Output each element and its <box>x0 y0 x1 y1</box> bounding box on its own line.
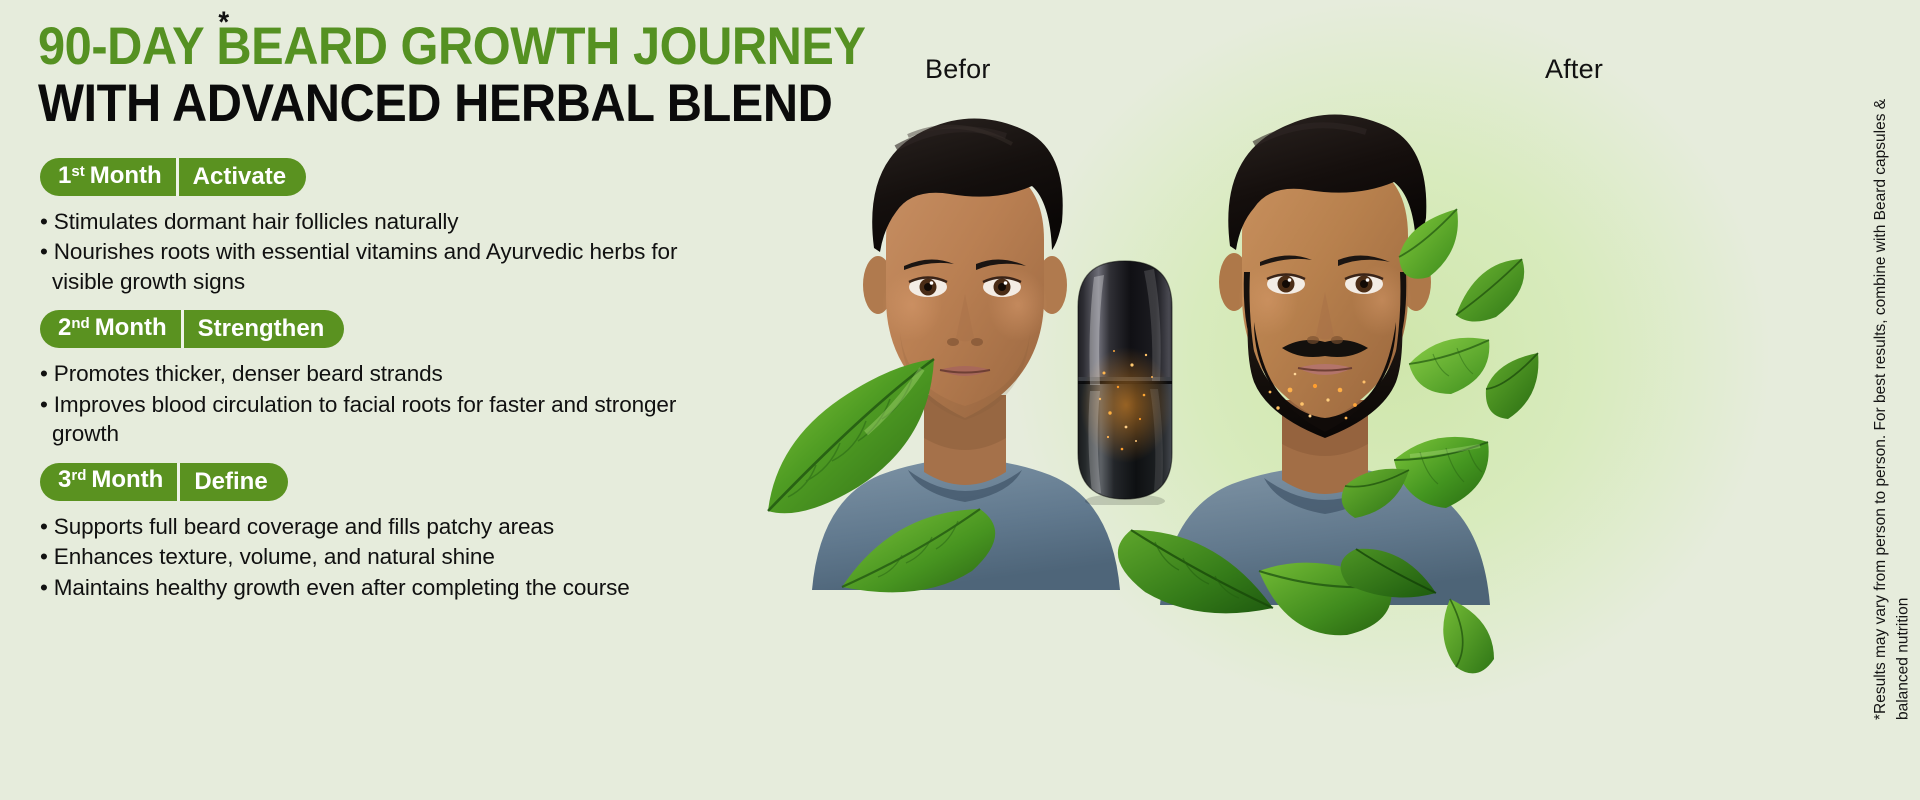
bullet-item: •Supports full beard coverage and fills … <box>40 512 740 541</box>
month-badge-3: 3rdMonth Define <box>40 463 288 501</box>
capsule-body <box>1070 255 1180 505</box>
bullet-item: •Promotes thicker, denser beard strands <box>40 359 740 388</box>
month-badge-2-stage: Strengthen <box>184 310 345 348</box>
leaf-icon <box>1330 535 1440 607</box>
month-badge-2-suffix: nd <box>71 310 89 343</box>
leaf-icon <box>1452 255 1530 327</box>
month-badge-1: 1stMonth Activate <box>40 158 306 196</box>
month-badge-1-left: 1stMonth <box>40 158 176 196</box>
month-badge-1-stage: Activate <box>179 158 306 196</box>
month-1-bullets: •Stimulates dormant hair follicles natur… <box>40 207 740 296</box>
month-badge-3-number: 3 <box>58 463 71 500</box>
bullet-dot: • <box>40 575 48 600</box>
headline-line-2: WITH ADVANCED HERBAL BLEND <box>38 79 848 130</box>
bullet-text: Nourishes roots with essential vitamins … <box>52 239 677 293</box>
disclaimer-block: *Results may vary from person to person.… <box>1870 0 1916 800</box>
disclaimer-text: *Results may vary from person to person.… <box>1870 80 1916 720</box>
leaf-icon <box>840 505 1015 600</box>
month-badge-3-suffix: rd <box>71 463 86 496</box>
bullet-text: Maintains healthy growth even after comp… <box>54 575 630 600</box>
leaf-icon <box>1335 460 1413 522</box>
leaf-icon <box>1430 595 1500 685</box>
bullet-item: •Enhances texture, volume, and natural s… <box>40 542 740 571</box>
after-eye-glint-left <box>1288 278 1292 282</box>
month-badge-1-number: 1 <box>58 158 71 195</box>
before-nostril-left <box>947 338 959 346</box>
month-badge-3-left: 3rdMonth <box>40 463 177 501</box>
month-block-2: 2ndMonth Strengthen •Promotes thicker, d… <box>40 310 740 448</box>
after-nostril-left <box>1307 336 1319 344</box>
month-badge-3-word: Month <box>91 463 163 500</box>
bullet-item: •Nourishes roots with essential vitamins… <box>40 237 740 296</box>
leaf-icon <box>762 345 942 520</box>
bullet-dot: • <box>40 361 48 386</box>
leaf-icon <box>1480 345 1545 423</box>
before-eye-glint-left <box>930 281 934 285</box>
month-badge-2-number: 2 <box>58 310 71 347</box>
headline-line-1: 90-DAY BEARD GROWTH JOURNEY * <box>38 22 848 73</box>
month-badge-1-suffix: st <box>71 158 84 191</box>
bullet-text: Supports full beard coverage and fills p… <box>54 514 554 539</box>
before-nostril-right <box>971 338 983 346</box>
bullet-text: Improves blood circulation to facial roo… <box>52 392 676 446</box>
leaf-icon <box>1105 520 1275 620</box>
after-eye-glint-right <box>1366 278 1370 282</box>
bullet-text: Promotes thicker, denser beard strands <box>54 361 443 386</box>
month-badge-3-stage: Define <box>180 463 287 501</box>
after-label: After <box>1545 54 1603 85</box>
bullet-dot: • <box>40 544 48 569</box>
bullet-text: Enhances texture, volume, and natural sh… <box>54 544 495 569</box>
month-badge-2: 2ndMonth Strengthen <box>40 310 344 348</box>
month-badge-1-word: Month <box>90 158 162 195</box>
month-block-3: 3rdMonth Define •Supports full beard cov… <box>40 463 740 602</box>
month-sections: 1stMonth Activate •Stimulates dormant ha… <box>40 158 740 616</box>
promo-banner: 90-DAY BEARD GROWTH JOURNEY * WITH ADVAN… <box>0 0 1920 800</box>
month-badge-2-word: Month <box>95 310 167 347</box>
before-eye-glint-right <box>1004 281 1008 285</box>
month-2-bullets: •Promotes thicker, denser beard strands … <box>40 359 740 448</box>
bullet-dot: • <box>40 392 48 417</box>
capsule-product-image <box>1070 255 1180 505</box>
bullet-text: Stimulates dormant hair follicles natura… <box>54 209 459 234</box>
month-3-bullets: •Supports full beard coverage and fills … <box>40 512 740 602</box>
month-badge-2-left: 2ndMonth <box>40 310 181 348</box>
bullet-item: •Maintains healthy growth even after com… <box>40 573 740 602</box>
headline-block: 90-DAY BEARD GROWTH JOURNEY * WITH ADVAN… <box>38 22 918 130</box>
month-block-1: 1stMonth Activate •Stimulates dormant ha… <box>40 158 740 296</box>
headline-asterisk: * <box>218 8 228 38</box>
after-nostril-right <box>1331 336 1343 344</box>
bullet-item: •Stimulates dormant hair follicles natur… <box>40 207 740 236</box>
bullet-dot: • <box>40 514 48 539</box>
headline-line-1-text: 90-DAY BEARD GROWTH JOURNEY <box>38 17 865 76</box>
bullet-dot: • <box>40 209 48 234</box>
bullet-item: •Improves blood circulation to facial ro… <box>40 390 740 449</box>
bullet-dot: • <box>40 239 48 264</box>
